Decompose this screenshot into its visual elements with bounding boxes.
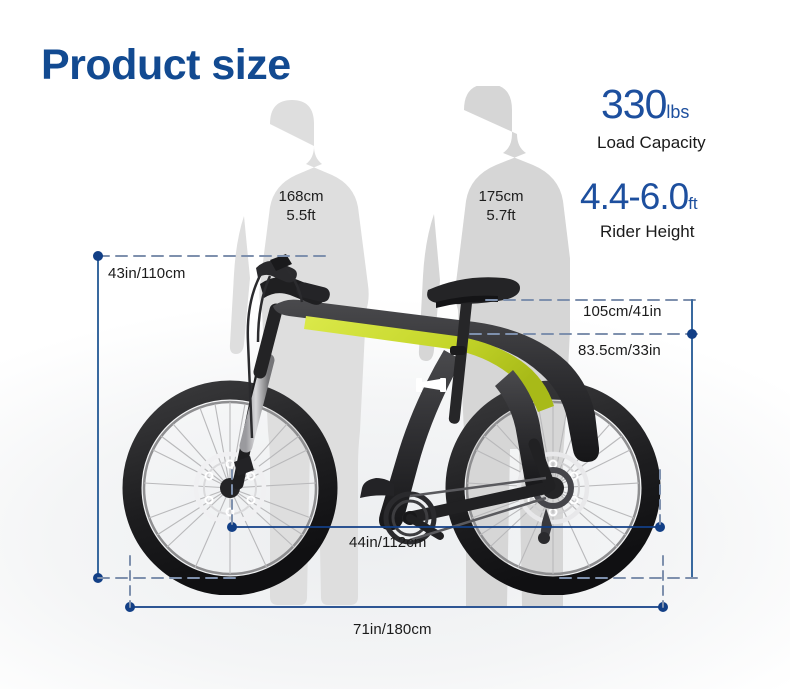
page-title: Product size — [41, 44, 291, 87]
infographic-canvas: 168cm 5.5ft 175cm 5.7ft — [0, 0, 790, 689]
load-capacity-label: Load Capacity — [597, 133, 706, 153]
rider-height-value: 4.4-6.0ft — [580, 178, 698, 215]
rider-height-unit: ft — [688, 194, 697, 213]
load-capacity-value: 330lbs — [601, 84, 689, 125]
dimension-label-overall-length: 71in/180cm — [353, 621, 432, 638]
dimension-label-seatpost-height: 83.5cm/33in — [578, 342, 661, 359]
rider-height-label: Rider Height — [600, 222, 695, 242]
dot-handlebar-top — [93, 251, 103, 261]
dot-seatpost — [687, 329, 697, 339]
dimension-label-handlebar-height: 43in/110cm — [108, 265, 185, 282]
dimension-label-saddle-height: 105cm/41in — [583, 303, 662, 320]
rider-height-number: 4.4-6.0 — [580, 176, 688, 217]
dimension-label-wheelbase: 44in/112cm — [349, 534, 426, 551]
load-capacity-number: 330 — [601, 81, 666, 127]
load-capacity-unit: lbs — [666, 102, 689, 122]
